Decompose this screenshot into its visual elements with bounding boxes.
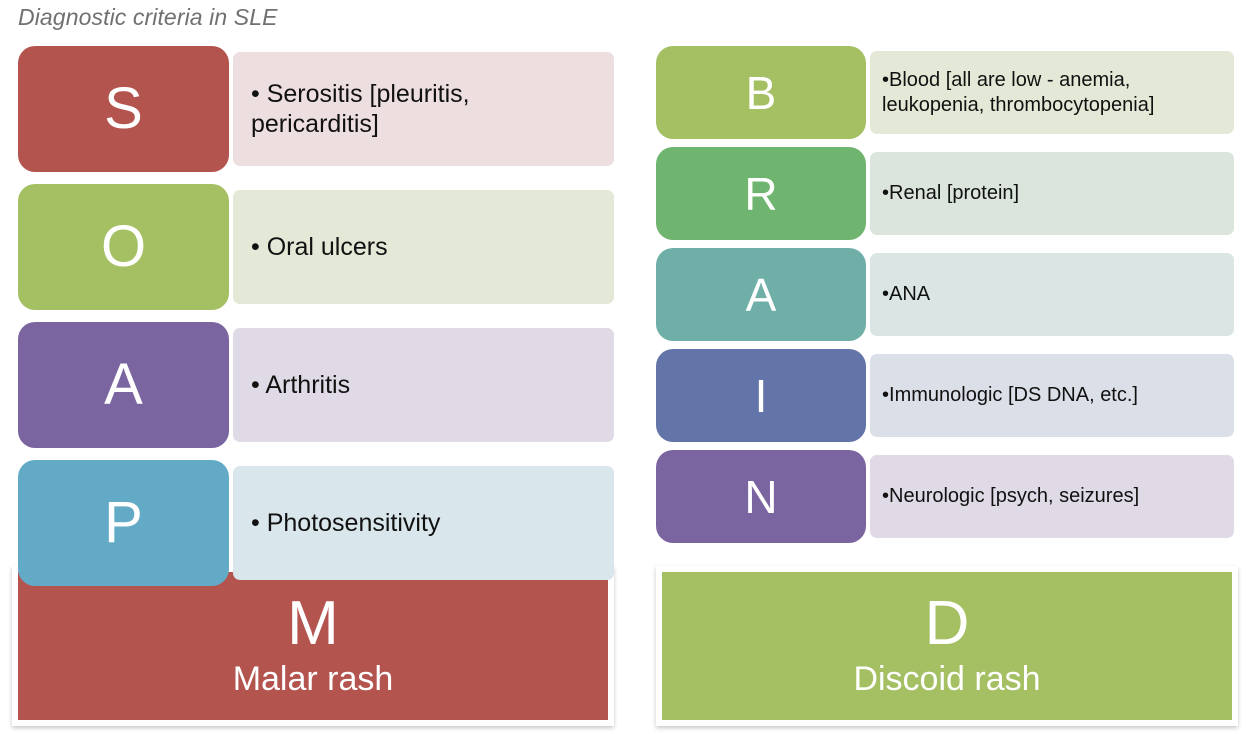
letter-tile-a: A (18, 322, 229, 448)
bullet-icon: • (882, 383, 889, 407)
description-panel-a2: •ANA (870, 253, 1234, 336)
bullet-icon: • (882, 181, 889, 205)
description-panel-o: • Oral ulcers (233, 190, 614, 304)
criterion-row: R •Renal [protein] (656, 147, 1234, 240)
description-label: Immunologic [DS DNA, etc.] (889, 384, 1138, 406)
banner-label-discoid-rash: Discoid rash (853, 661, 1040, 698)
criterion-row: P • Photosensitivity (18, 460, 614, 586)
letter-tile-b: B (656, 46, 866, 139)
description-text-s: • Serositis [pleuritis, pericarditis] (251, 79, 600, 140)
description-label: Serositis [pleuritis, pericarditis] (251, 80, 470, 139)
bullet-icon: • (251, 79, 260, 110)
description-text-a: • Arthritis (251, 370, 350, 401)
criterion-row: N •Neurologic [psych, seizures] (656, 450, 1234, 543)
description-text-p: • Photosensitivity (251, 508, 440, 539)
description-label: Arthritis (265, 371, 350, 399)
description-label: Photosensitivity (267, 509, 441, 537)
bullet-icon: • (882, 484, 889, 508)
letter-tile-n: N (656, 450, 866, 543)
letter-tile-a2: A (656, 248, 866, 341)
banner-label-malar-rash: Malar rash (233, 661, 394, 698)
description-text-a2: •ANA (882, 282, 930, 306)
description-label: ANA (889, 283, 930, 305)
description-text-o: • Oral ulcers (251, 232, 388, 263)
description-label: Oral ulcers (267, 233, 388, 261)
criteria-column-brain: B •Blood [all are low - anemia, leukopen… (656, 46, 1234, 551)
bullet-icon: • (251, 232, 260, 263)
bullet-icon: • (882, 68, 889, 92)
description-panel-b: •Blood [all are low - anemia, leukopenia… (870, 51, 1234, 134)
letter-tile-o: O (18, 184, 229, 310)
criterion-row: A • Arthritis (18, 322, 614, 448)
banner-discoid-rash-frame: D Discoid rash (656, 566, 1238, 726)
description-text-i: •Immunologic [DS DNA, etc.] (882, 383, 1138, 407)
description-text-b: •Blood [all are low - anemia, leukopenia… (882, 68, 1224, 117)
bullet-icon: • (882, 282, 889, 306)
description-label: Blood [all are low - anemia, leukopenia,… (882, 69, 1154, 115)
description-label: Neurologic [psych, seizures] (889, 485, 1139, 507)
criterion-row: A •ANA (656, 248, 1234, 341)
criterion-row: S • Serositis [pleuritis, pericarditis] (18, 46, 614, 172)
criterion-row: O • Oral ulcers (18, 184, 614, 310)
criterion-row: B •Blood [all are low - anemia, leukopen… (656, 46, 1234, 139)
banner-letter-m: M (287, 593, 339, 655)
banner-discoid-rash: D Discoid rash (662, 572, 1232, 720)
letter-tile-s: S (18, 46, 229, 172)
criterion-row: I •Immunologic [DS DNA, etc.] (656, 349, 1234, 442)
description-panel-s: • Serositis [pleuritis, pericarditis] (233, 52, 614, 166)
diagram-canvas: Diagnostic criteria in SLE S • Serositis… (0, 0, 1260, 734)
letter-tile-r: R (656, 147, 866, 240)
description-panel-i: •Immunologic [DS DNA, etc.] (870, 354, 1234, 437)
description-panel-a: • Arthritis (233, 328, 614, 442)
description-panel-r: •Renal [protein] (870, 152, 1234, 235)
criteria-column-soap: S • Serositis [pleuritis, pericarditis] … (18, 46, 614, 598)
banner-letter-d: D (925, 593, 970, 655)
description-panel-p: • Photosensitivity (233, 466, 614, 580)
description-label: Renal [protein] (889, 182, 1019, 204)
bullet-icon: • (251, 370, 260, 401)
banner-malar-rash: M Malar rash (18, 572, 608, 720)
banner-malar-rash-frame: M Malar rash (12, 566, 614, 726)
letter-tile-p: P (18, 460, 229, 586)
bullet-icon: • (251, 508, 260, 539)
description-text-r: •Renal [protein] (882, 181, 1019, 205)
description-text-n: •Neurologic [psych, seizures] (882, 484, 1139, 508)
page-title: Diagnostic criteria in SLE (18, 4, 278, 31)
letter-tile-i: I (656, 349, 866, 442)
description-panel-n: •Neurologic [psych, seizures] (870, 455, 1234, 538)
